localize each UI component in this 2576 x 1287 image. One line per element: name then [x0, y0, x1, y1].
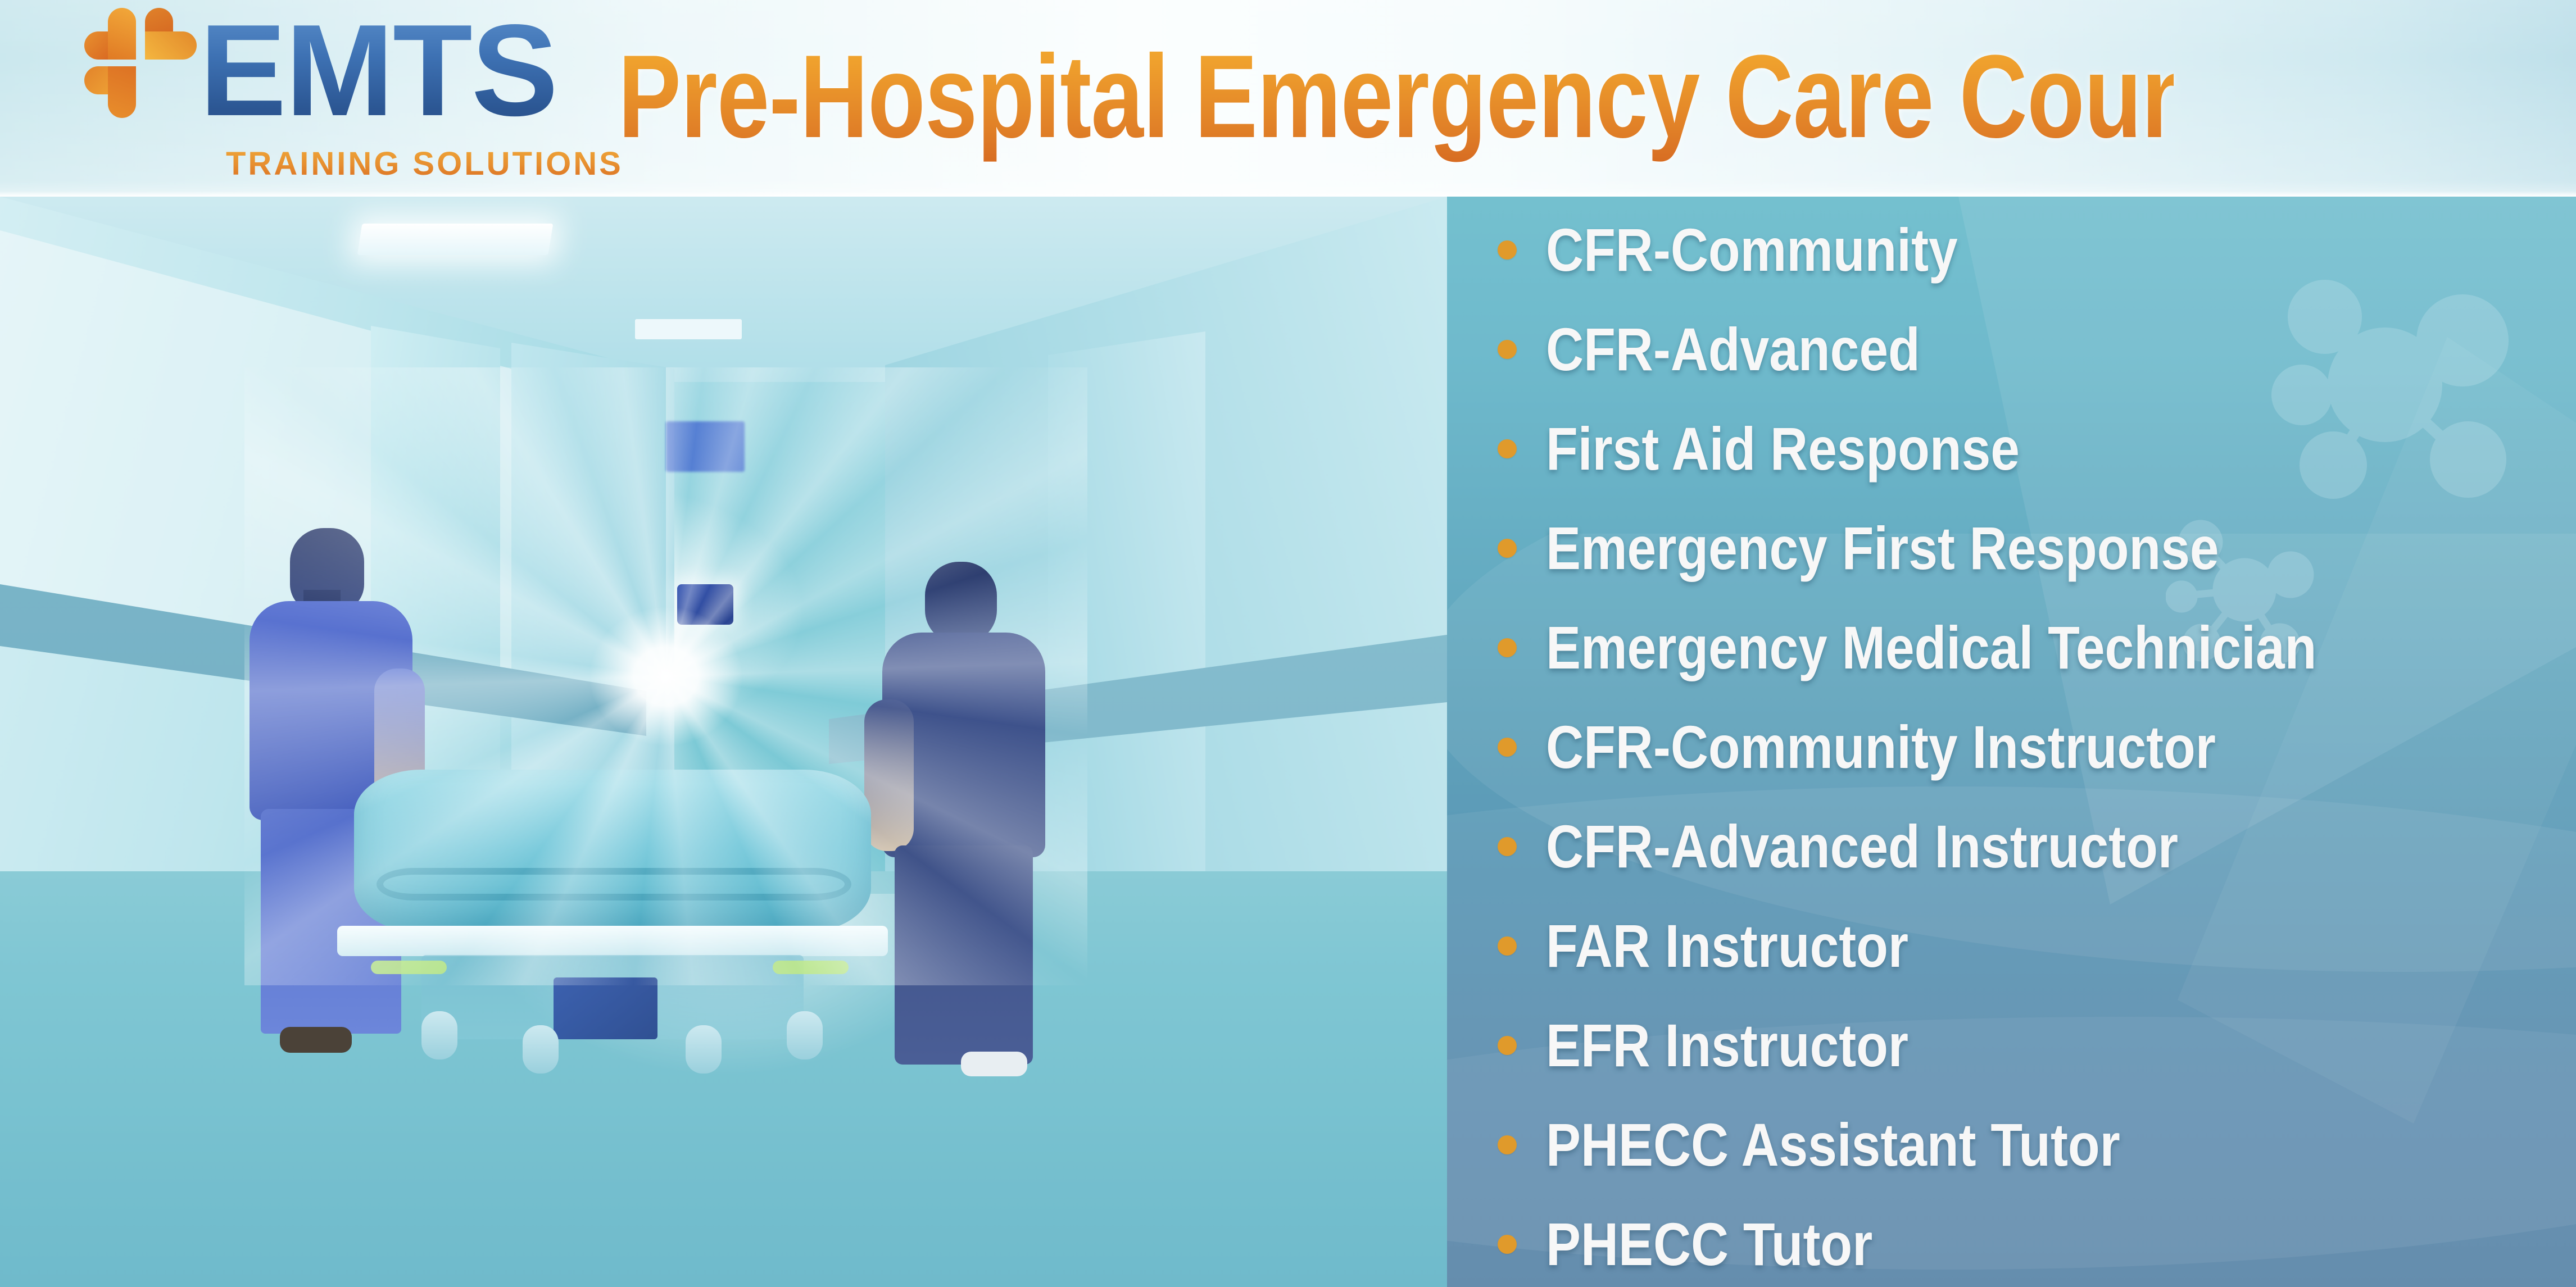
- header-band: EMTS TRAINING SOLUTIONS Pre-Hospital Eme…: [0, 0, 2576, 197]
- bullet-icon: [1498, 738, 1517, 757]
- bullet-icon: [1498, 539, 1517, 558]
- course-label: Emergency First Response: [1546, 518, 2219, 579]
- course-list-item[interactable]: First Aid Response: [1498, 415, 2097, 483]
- bullet-icon: [1498, 1235, 1517, 1254]
- corridor-monitor-icon: [677, 584, 733, 625]
- course-label: CFR-Advanced: [1546, 319, 1920, 380]
- page-title: Pre-Hospital Emergency Care Council Cour…: [618, 12, 2174, 181]
- bullet-icon: [1498, 240, 1517, 260]
- corridor-sign-icon: [666, 421, 745, 472]
- course-list-item[interactable]: Emergency Medical Technician: [1498, 614, 2442, 681]
- nurse-figure-right: [871, 562, 1056, 1079]
- hospital-gurney: [337, 770, 888, 1084]
- course-label: EFR Instructor: [1546, 1015, 1908, 1076]
- course-label: First Aid Response: [1546, 419, 2020, 479]
- course-list-item[interactable]: FAR Instructor: [1498, 912, 1967, 980]
- brand-logo[interactable]: EMTS TRAINING SOLUTIONS: [84, 3, 511, 194]
- bullet-icon: [1498, 439, 1517, 458]
- medical-cross-icon: [84, 8, 197, 118]
- ceiling-light-icon: [357, 224, 554, 255]
- bullet-icon: [1498, 1135, 1517, 1154]
- course-label: FAR Instructor: [1546, 916, 1908, 976]
- course-list-item[interactable]: CFR-Advanced: [1498, 316, 1981, 383]
- course-list-item[interactable]: CFR-Community Instructor: [1498, 713, 2325, 781]
- corridor-door-right: [1048, 331, 1205, 961]
- poster-root: EMTS TRAINING SOLUTIONS Pre-Hospital Eme…: [0, 0, 2576, 1287]
- course-label: Emergency Medical Technician: [1546, 617, 2316, 678]
- bullet-icon: [1498, 638, 1517, 657]
- course-label: PHECC Tutor: [1546, 1214, 1872, 1275]
- bullet-icon: [1498, 1036, 1517, 1055]
- brand-name: EMTS: [199, 6, 557, 136]
- course-list-item[interactable]: PHECC Assistant Tutor: [1498, 1111, 2214, 1179]
- course-label: CFR-Community Instructor: [1546, 717, 2216, 777]
- course-list-item[interactable]: CFR-Community: [1498, 216, 2025, 284]
- course-list-item[interactable]: CFR-Advanced Instructor: [1498, 813, 2281, 880]
- course-list-item[interactable]: PHECC Tutor: [1498, 1211, 1926, 1278]
- course-list-item[interactable]: EFR Instructor: [1498, 1012, 1967, 1079]
- ceiling-light-icon: [635, 319, 742, 339]
- brand-tagline: TRAINING SOLUTIONS: [226, 145, 623, 183]
- bullet-icon: [1498, 837, 1517, 856]
- hospital-corridor-photo: [0, 197, 1447, 1287]
- course-list: CFR-Community CFR-Advanced First Aid Res…: [1447, 197, 2576, 1287]
- bullet-icon: [1498, 340, 1517, 359]
- course-label: PHECC Assistant Tutor: [1546, 1115, 2120, 1175]
- course-list-item[interactable]: Emergency First Response: [1498, 515, 2329, 582]
- course-label: CFR-Advanced Instructor: [1546, 816, 2178, 877]
- bullet-icon: [1498, 936, 1517, 956]
- course-label: CFR-Community: [1546, 220, 1958, 280]
- courses-panel: CFR-Community CFR-Advanced First Aid Res…: [1447, 197, 2576, 1287]
